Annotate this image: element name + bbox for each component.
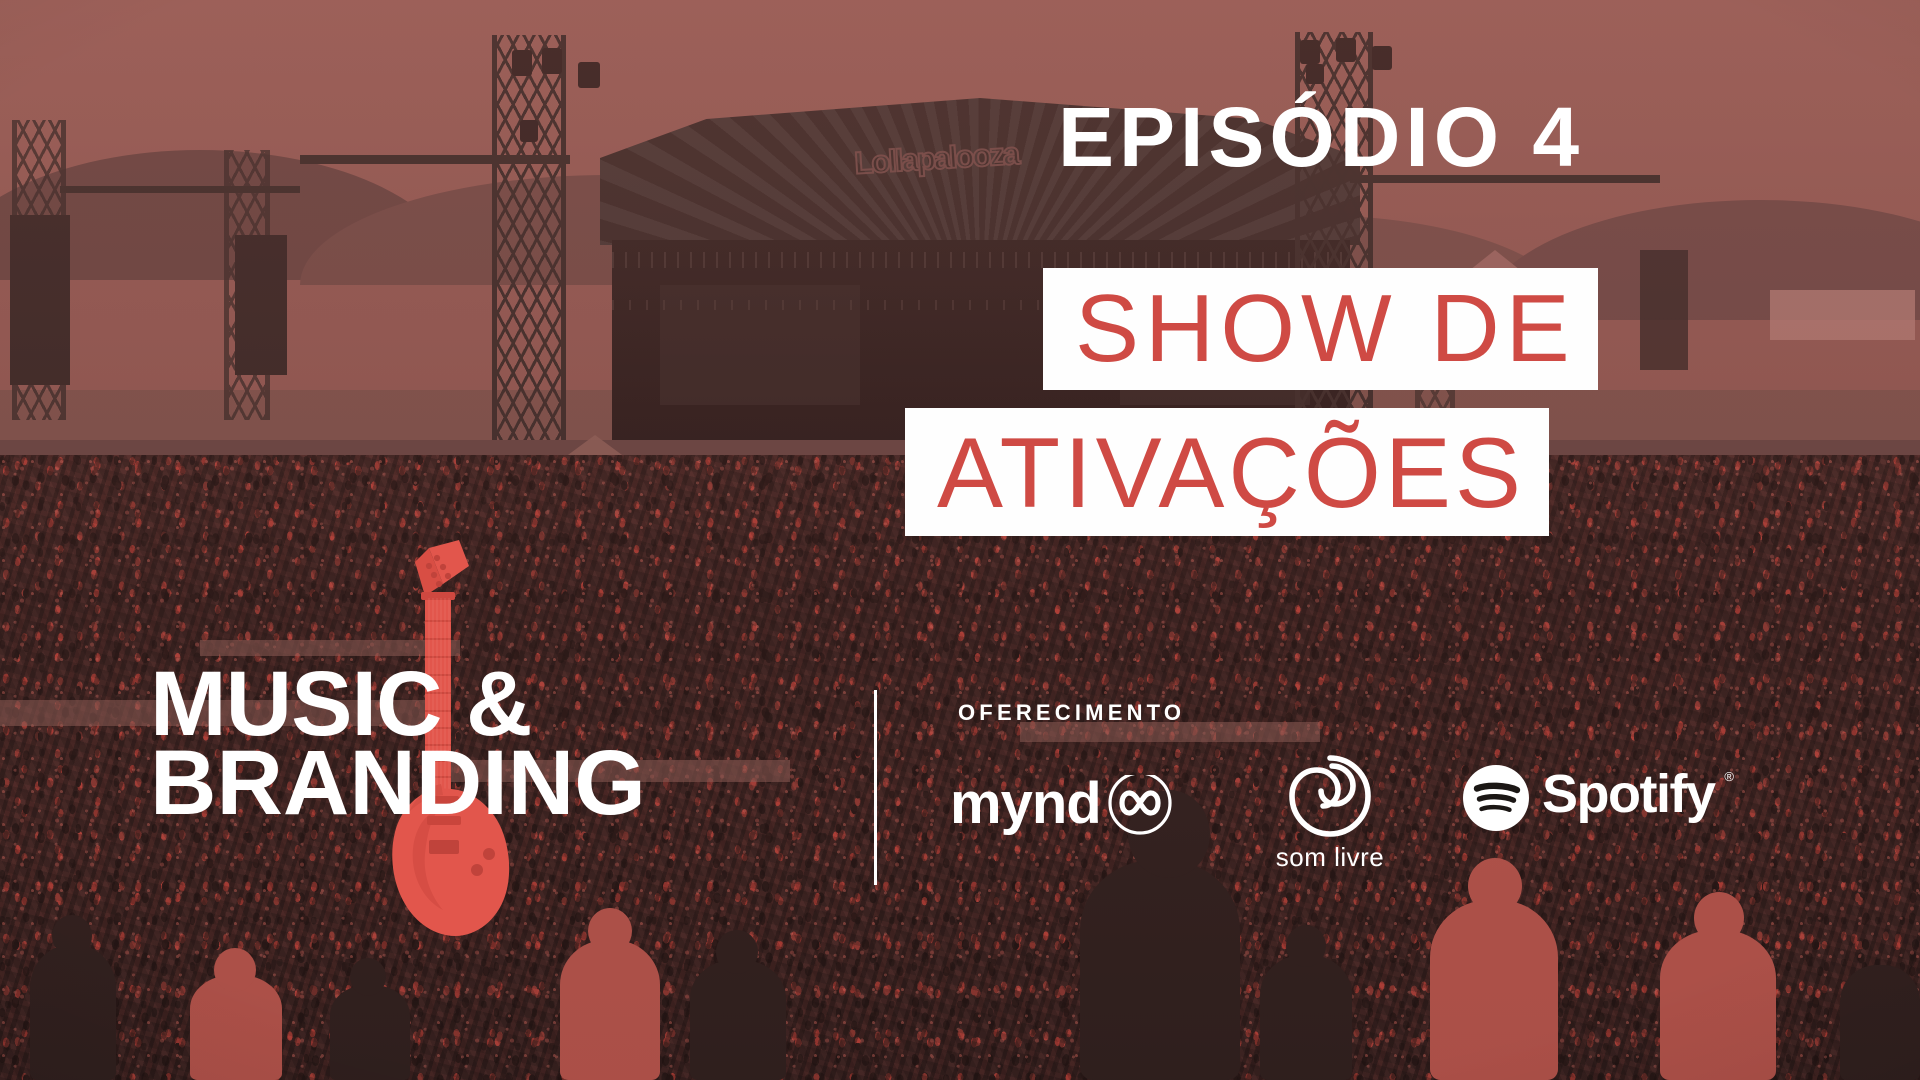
spotify-waves-icon [1462,764,1530,832]
sponsor-logo-spotify: Spotify ® [1462,765,1732,831]
spiral-icon [1250,752,1410,844]
show-logo-line-2: BRANDING [150,744,646,823]
vertical-divider [874,690,877,885]
som-livre-wordmark: som livre [1250,842,1410,873]
episode-label: EPISÓDIO 4 [1058,95,1584,179]
title-line-2-box: ATIVAÇÕES [905,408,1549,536]
spotify-wordmark: Spotify [1542,763,1715,827]
thumbnail-canvas: Lollapalooza [0,0,1920,1080]
title-line-1-box: SHOW DE [1043,268,1598,390]
title-group: EPISÓDIO 4 SHOW DE ATIVAÇÕES [0,0,1920,1080]
sponsor-logo-som-livre: som livre [1250,752,1410,872]
show-logo: MUSIC & BRANDING [150,665,646,823]
infinity-icon [950,775,1200,839]
sponsor-label: OFERECIMENTO [958,700,1185,726]
spotify-trademark: ® [1724,769,1734,784]
sponsor-logo-mynd: mynd [950,775,1200,839]
title-line-2: ATIVAÇÕES [937,423,1525,522]
title-line-1: SHOW DE [1075,281,1576,377]
